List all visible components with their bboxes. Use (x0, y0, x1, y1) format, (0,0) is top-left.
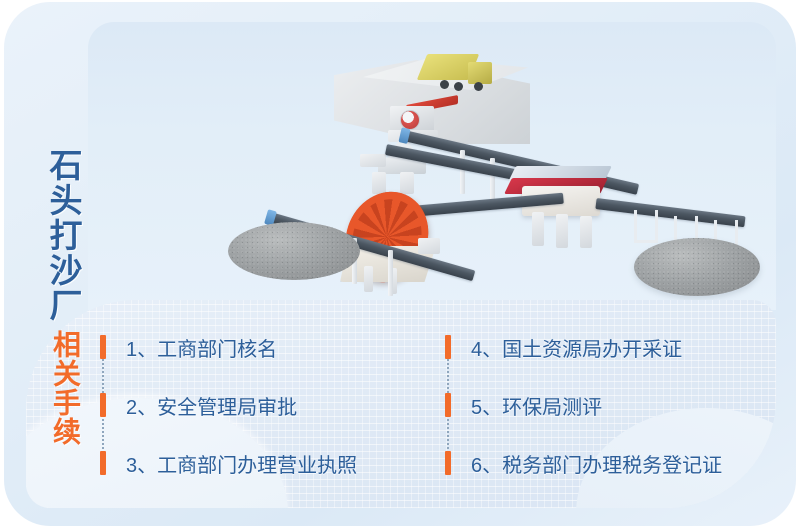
bullet-marker-icon (445, 451, 451, 475)
list-item[interactable]: 4、国土资源局办开采证 (445, 330, 760, 364)
bullet-marker-icon (100, 393, 106, 417)
bullet-marker-icon (445, 393, 451, 417)
dump-truck-wheel-icon (440, 80, 449, 89)
illustration-panel (88, 22, 776, 310)
vibrating-screen-support-icon (556, 214, 568, 248)
procedures-column-right: 4、国土资源局办开采证 5、环保局测评 6、税务部门办理税务登记证 (415, 318, 760, 494)
conveyor-leg-icon (460, 150, 465, 194)
list-item[interactable]: 1、工商部门核名 (100, 330, 415, 364)
cone-crusher-motor-icon (360, 154, 386, 167)
list-item-label: 5、环保局测评 (471, 391, 602, 420)
gravel-pile-icon (228, 222, 360, 280)
sand-washer-leg-icon (364, 266, 373, 292)
list-item-label: 4、国土资源局办开采证 (471, 333, 682, 362)
dump-truck-cab-icon (468, 62, 492, 84)
cone-crusher-support-icon (400, 172, 414, 194)
gravel-pile-icon (634, 238, 760, 296)
bullet-marker-icon (445, 335, 451, 359)
cone-crusher-support-icon (372, 172, 386, 194)
dump-truck-wheel-icon (474, 82, 483, 91)
dump-truck-wheel-icon (454, 82, 463, 91)
conveyor-trestle-icon (634, 210, 658, 243)
procedures-column-left: 1、工商部门核名 2、安全管理局审批 3、工商部门办理营业执照 (100, 318, 415, 494)
list-item[interactable]: 6、税务部门办理税务登记证 (445, 446, 760, 480)
vibrating-screen-support-icon (580, 216, 592, 248)
vibrating-screen-support-icon (532, 212, 544, 246)
section-title-procedures: 相关手续 (40, 330, 80, 446)
procedures-columns: 1、工商部门核名 2、安全管理局审批 3、工商部门办理营业执照 4、国土资源局办… (100, 318, 760, 494)
list-item[interactable]: 2、安全管理局审批 (100, 388, 415, 422)
bullet-marker-icon (100, 451, 106, 475)
list-item-label: 1、工商部门核名 (126, 333, 277, 362)
list-item-label: 2、安全管理局审批 (126, 391, 297, 420)
page-root: 石头打沙厂 相关手续 1、工商部门核名 2、安全管理局审批 3、工商部门办理营业… (0, 0, 800, 530)
conveyor-head-pulley-icon (398, 127, 410, 144)
list-item-label: 6、税务部门办理税务登记证 (471, 449, 722, 478)
page-title: 石头打沙厂 (34, 148, 80, 323)
list-item-label: 3、工商部门办理营业执照 (126, 449, 357, 478)
conveyor-leg-icon (388, 250, 393, 296)
list-item[interactable]: 3、工商部门办理营业执照 (100, 446, 415, 480)
list-item[interactable]: 5、环保局测评 (445, 388, 760, 422)
production-line-illustration (88, 22, 776, 310)
bullet-marker-icon (100, 335, 106, 359)
sand-washer-motor-icon (418, 238, 440, 254)
